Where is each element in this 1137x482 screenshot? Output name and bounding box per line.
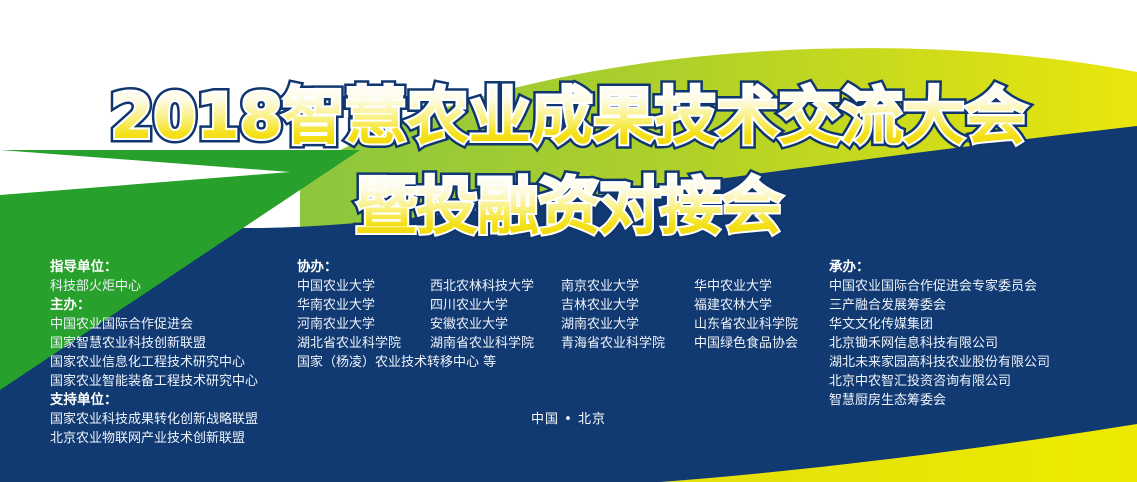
credits-column-coorganizer-b: 南京农业大学 华中农业大学 吉林农业大学 福建农林大学 湖南农业大学 山东省农业… <box>561 258 798 353</box>
coorganizer-3-1: 湖南省农业科学院 <box>430 334 534 353</box>
credits-block: 指导单位： 科技部火炬中心 主办： 中国农业国际合作促进会 国家智慧农业科技创新… <box>0 258 1137 458</box>
coorganizer-row-2: 河南农业大学 安徽农业大学 <box>297 315 534 334</box>
coorganizer-0-1: 西北农林科技大学 <box>430 277 534 296</box>
undertaker-item-3: 北京锄禾网信息科技有限公司 <box>829 334 1050 353</box>
host-item-3: 国家农业智能装备工程技术研究中心 <box>50 372 258 391</box>
coorganizer-2-1: 安徽农业大学 <box>430 315 508 334</box>
coorganizer-1-1: 四川农业大学 <box>430 296 508 315</box>
undertaker-heading: 承办： <box>829 258 1050 277</box>
coorganizer-1-0: 华南农业大学 <box>297 296 430 315</box>
coorganizer-last-row: 国家（杨凌）农业技术转移中心 等 <box>297 353 534 372</box>
host-heading: 主办： <box>50 296 258 315</box>
coorganizer-2-3: 山东省农业科学院 <box>694 315 798 334</box>
coorganizer-row-2-b: 湖南农业大学 山东省农业科学院 <box>561 315 798 334</box>
coorganizer-heading: 协办： <box>297 258 534 277</box>
undertaker-item-4: 湖北未来家园高科技农业股份有限公司 <box>829 353 1050 372</box>
coorganizer-row-1-b: 吉林农业大学 福建农林大学 <box>561 296 798 315</box>
coorganizer-1-2: 吉林农业大学 <box>561 296 694 315</box>
undertaker-item-0: 中国农业国际合作促进会专家委员会 <box>829 277 1050 296</box>
host-item-0: 中国农业国际合作促进会 <box>50 315 258 334</box>
coorganizer-2-0: 河南农业大学 <box>297 315 430 334</box>
event-location: 中国 • 北京 <box>0 408 1137 427</box>
undertaker-item-1: 三产融合发展筹委会 <box>829 296 1050 315</box>
coorganizer-row-3: 湖北省农业科学院 湖南省农业科学院 <box>297 334 534 353</box>
host-item-1: 国家智慧农业科技创新联盟 <box>50 334 258 353</box>
coorganizer-0-2: 南京农业大学 <box>561 277 694 296</box>
poster-banner: 2018智慧农业成果技术交流大会 2018智慧农业成果技术交流大会 2018智慧… <box>0 0 1137 482</box>
host-item-2: 国家农业信息化工程技术研究中心 <box>50 353 258 372</box>
credits-column-undertaker: 承办： 中国农业国际合作促进会专家委员会 三产融合发展筹委会 华文文化传媒集团 … <box>829 258 1050 410</box>
coorganizer-0-3: 华中农业大学 <box>694 277 772 296</box>
coorganizer-3-3: 中国绿色食品协会 <box>694 334 798 353</box>
coorganizer-0-0: 中国农业大学 <box>297 277 430 296</box>
coorganizer-spacer-heading <box>561 258 798 277</box>
coorganizer-3-2: 青海省农业科学院 <box>561 334 694 353</box>
credits-column-coorganizer-a: 协办： 中国农业大学 西北农林科技大学 华南农业大学 四川农业大学 河南农业大学… <box>297 258 534 372</box>
coorganizer-row-0: 中国农业大学 西北农林科技大学 <box>297 277 534 296</box>
coorganizer-row-0-b: 南京农业大学 华中农业大学 <box>561 277 798 296</box>
undertaker-item-5: 北京中农智汇投资咨询有限公司 <box>829 372 1050 391</box>
guide-heading: 指导单位： <box>50 258 258 277</box>
coorganizer-3-0: 湖北省农业科学院 <box>297 334 430 353</box>
support-item-1: 北京农业物联网产业技术创新联盟 <box>50 429 258 448</box>
coorganizer-2-2: 湖南农业大学 <box>561 315 694 334</box>
coorganizer-row-1: 华南农业大学 四川农业大学 <box>297 296 534 315</box>
coorganizer-1-3: 福建农林大学 <box>694 296 772 315</box>
undertaker-item-2: 华文文化传媒集团 <box>829 315 1050 334</box>
guide-item-0: 科技部火炬中心 <box>50 277 258 296</box>
coorganizer-row-3-b: 青海省农业科学院 中国绿色食品协会 <box>561 334 798 353</box>
